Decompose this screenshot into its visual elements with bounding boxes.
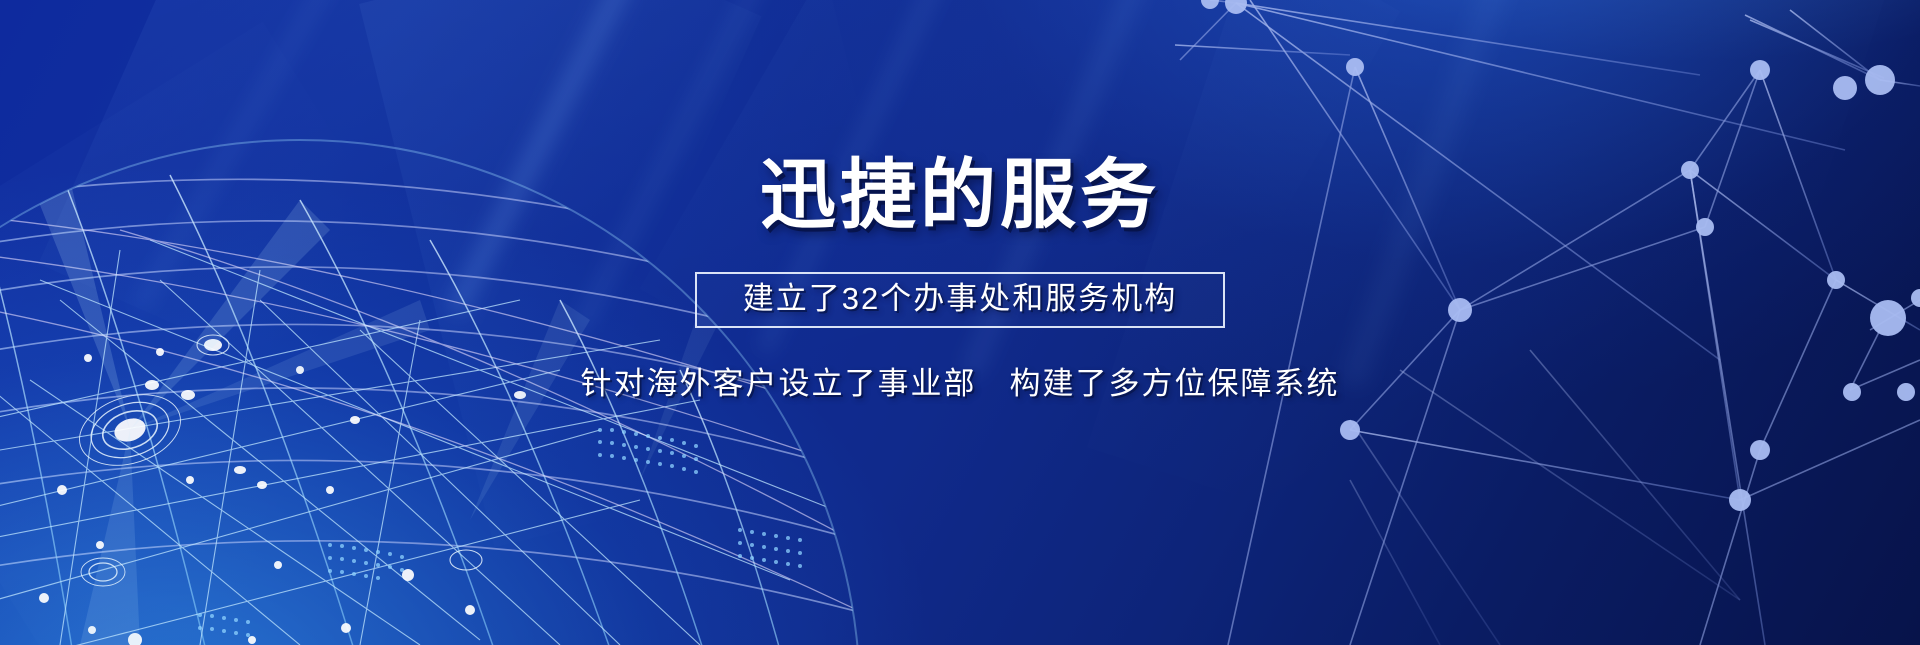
subtitle-text: 建立了32个办事处和服务机构 <box>743 283 1177 314</box>
subtitle-box: 建立了32个办事处和服务机构 <box>695 272 1225 328</box>
tagline-text: 针对海外客户设立了事业部 构建了多方位保障系统 <box>581 358 1340 403</box>
page-title: 迅捷的服务 <box>760 158 1160 234</box>
banner-content: 迅捷的服务 建立了32个办事处和服务机构 针对海外客户设立了事业部 构建了多方位… <box>0 0 1920 645</box>
hero-banner: 迅捷的服务 建立了32个办事处和服务机构 针对海外客户设立了事业部 构建了多方位… <box>0 0 1920 645</box>
